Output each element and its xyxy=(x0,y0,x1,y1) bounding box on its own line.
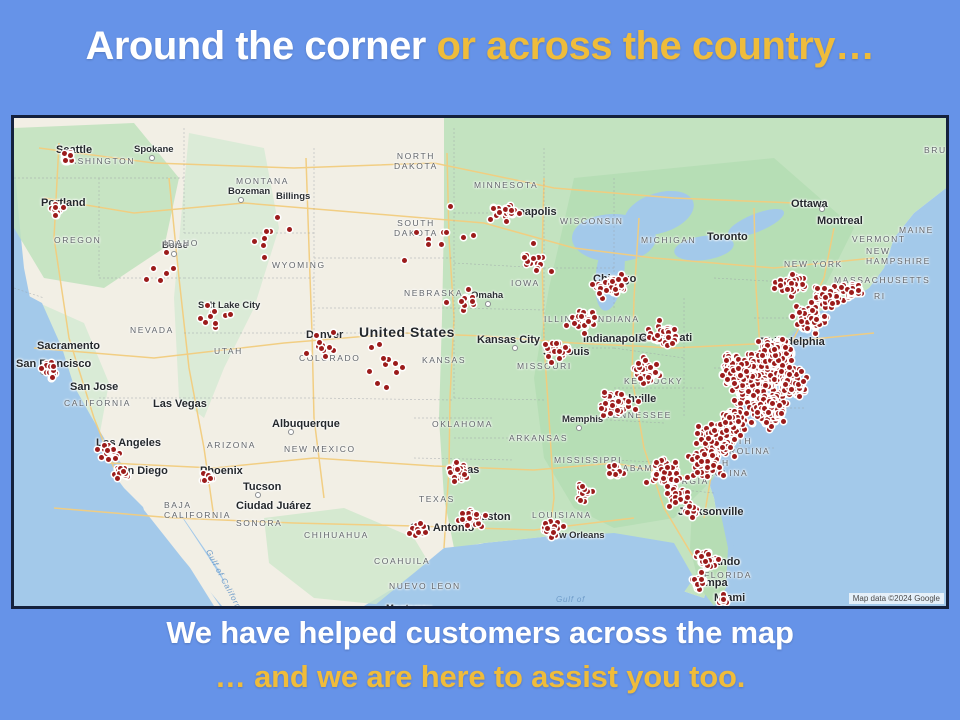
customer-marker xyxy=(655,333,660,338)
customer-marker xyxy=(608,411,613,416)
customer-marker xyxy=(781,400,786,405)
customer-marker xyxy=(728,445,733,450)
customer-marker xyxy=(563,345,568,350)
customer-marker xyxy=(839,285,844,290)
customer-marker xyxy=(619,272,624,277)
customer-marker xyxy=(665,343,670,348)
customer-marker xyxy=(810,308,815,313)
customer-marker xyxy=(115,476,120,481)
customer-marker xyxy=(262,236,267,241)
city-marker-kansas-city xyxy=(512,345,518,351)
customer-marker xyxy=(690,457,695,462)
map-container[interactable]: Seattle Spokane Portland Boise Bozeman B… xyxy=(11,115,949,609)
customer-marker xyxy=(454,460,459,465)
customer-marker xyxy=(564,323,569,328)
customer-marker xyxy=(765,364,770,369)
customer-marker xyxy=(755,410,760,415)
customer-marker xyxy=(331,330,336,335)
customer-marker xyxy=(203,320,208,325)
customer-marker xyxy=(95,447,100,452)
customer-marker xyxy=(789,387,794,392)
customer-marker xyxy=(377,342,382,347)
customer-marker xyxy=(744,411,749,416)
customer-marker xyxy=(685,510,690,515)
customer-marker xyxy=(778,283,783,288)
customer-marker xyxy=(788,347,793,352)
customer-marker xyxy=(647,335,652,340)
city-marker-boise xyxy=(171,251,177,257)
customer-marker xyxy=(654,472,659,477)
customer-marker xyxy=(718,422,723,427)
customer-marker xyxy=(444,230,449,235)
customer-marker xyxy=(102,443,107,448)
customer-marker xyxy=(781,419,786,424)
customer-marker xyxy=(213,325,218,330)
customer-marker xyxy=(497,210,502,215)
customer-marker xyxy=(418,521,423,526)
customer-marker xyxy=(111,447,116,452)
customer-marker xyxy=(633,407,638,412)
customer-marker xyxy=(531,241,536,246)
customer-marker xyxy=(784,351,789,356)
customer-marker xyxy=(517,211,522,216)
customer-marker xyxy=(202,478,207,483)
customer-marker xyxy=(648,365,653,370)
customer-marker xyxy=(797,310,802,315)
customer-marker xyxy=(452,479,457,484)
customer-marker xyxy=(580,484,585,489)
customer-marker xyxy=(164,271,169,276)
customer-marker xyxy=(323,354,328,359)
customer-marker xyxy=(694,441,699,446)
customer-marker xyxy=(158,278,163,283)
customer-marker xyxy=(461,308,466,313)
customer-marker xyxy=(776,358,781,363)
city-marker-memphis xyxy=(576,425,582,431)
customer-marker xyxy=(549,535,554,540)
customer-marker xyxy=(623,277,628,282)
customer-marker xyxy=(703,441,708,446)
customer-marker xyxy=(780,363,785,368)
customer-marker xyxy=(797,394,802,399)
customer-marker xyxy=(393,361,398,366)
customer-marker xyxy=(252,239,257,244)
customer-marker xyxy=(460,517,465,522)
customer-marker xyxy=(822,286,827,291)
customer-marker xyxy=(319,346,324,351)
customer-marker xyxy=(62,151,67,156)
customer-marker xyxy=(531,256,536,261)
customer-marker xyxy=(692,577,697,582)
customer-marker xyxy=(691,505,696,510)
customer-marker xyxy=(789,281,794,286)
customer-marker xyxy=(777,403,782,408)
customer-marker xyxy=(448,204,453,209)
customer-marker xyxy=(654,362,659,367)
customer-marker xyxy=(69,158,74,163)
customer-marker xyxy=(687,504,692,509)
customer-marker xyxy=(590,310,595,315)
customer-marker xyxy=(53,213,58,218)
customer-marker xyxy=(745,400,750,405)
footer-text-block: We have helped customers across the map … xyxy=(0,612,960,700)
customer-marker xyxy=(444,300,449,305)
customer-marker xyxy=(702,452,707,457)
customer-marker xyxy=(823,305,828,310)
customer-marker xyxy=(802,311,807,316)
customer-marker xyxy=(626,404,631,409)
customer-marker xyxy=(815,286,820,291)
customer-marker xyxy=(63,158,68,163)
customer-marker xyxy=(749,420,754,425)
customer-marker xyxy=(590,282,595,287)
customer-marker xyxy=(732,381,737,386)
customer-marker xyxy=(53,205,58,210)
customer-marker xyxy=(467,516,472,521)
customer-marker xyxy=(626,399,631,404)
customer-marker xyxy=(742,427,747,432)
customer-marker xyxy=(716,557,721,562)
city-marker-bozeman xyxy=(238,197,244,203)
customer-marker xyxy=(690,515,695,520)
customer-marker xyxy=(546,354,551,359)
customer-marker xyxy=(636,399,641,404)
footer-line-1: We have helped customers across the map xyxy=(0,612,960,654)
customer-marker xyxy=(667,471,672,476)
customer-marker xyxy=(805,320,810,325)
customer-marker xyxy=(841,298,846,303)
city-marker-omaha xyxy=(485,301,491,307)
customer-marker xyxy=(683,499,688,504)
customer-marker xyxy=(572,321,577,326)
customer-marker xyxy=(744,369,749,374)
customer-marker xyxy=(612,463,617,468)
customer-marker xyxy=(51,364,56,369)
headline-gold-text: or across the country… xyxy=(437,24,875,68)
city-marker-tucson xyxy=(255,492,261,498)
customer-marker xyxy=(601,413,606,418)
customer-marker xyxy=(582,331,587,336)
customer-marker xyxy=(809,300,814,305)
customer-marker xyxy=(394,370,399,375)
customer-marker xyxy=(814,317,819,322)
customer-marker xyxy=(755,389,760,394)
customer-marker xyxy=(772,347,777,352)
customer-marker xyxy=(592,315,597,320)
customer-marker xyxy=(503,207,508,212)
customer-marker xyxy=(720,373,725,378)
customer-marker xyxy=(666,335,671,340)
customer-marker xyxy=(799,369,804,374)
customer-marker xyxy=(724,428,729,433)
customer-marker xyxy=(402,258,407,263)
customer-marker xyxy=(603,401,608,406)
customer-marker xyxy=(779,411,784,416)
customer-marker xyxy=(699,459,704,464)
customer-marker xyxy=(590,489,595,494)
customer-marker xyxy=(262,255,267,260)
customer-marker xyxy=(730,361,735,366)
customer-marker xyxy=(780,337,785,342)
customer-marker xyxy=(164,250,169,255)
customer-marker xyxy=(287,227,292,232)
customer-marker xyxy=(557,356,562,361)
customer-marker xyxy=(603,280,608,285)
customer-marker xyxy=(736,419,741,424)
customer-marker xyxy=(208,314,213,319)
city-marker-spokane xyxy=(149,155,155,161)
customer-marker xyxy=(367,369,372,374)
customer-marker xyxy=(638,376,643,381)
customer-marker xyxy=(695,470,700,475)
customer-marker xyxy=(672,327,677,332)
customer-marker xyxy=(113,456,118,461)
customer-marker xyxy=(545,526,550,531)
page-title: Around the corner or across the country… xyxy=(0,24,960,69)
customer-marker xyxy=(787,365,792,370)
customer-marker xyxy=(327,345,332,350)
customer-marker xyxy=(317,340,322,345)
customer-marker xyxy=(751,393,756,398)
customer-marker xyxy=(732,437,737,442)
customer-marker xyxy=(756,339,761,344)
customer-marker xyxy=(228,312,233,317)
customer-marker xyxy=(607,471,612,476)
customer-marker xyxy=(610,279,615,284)
customer-marker xyxy=(695,582,700,587)
customer-marker xyxy=(426,242,431,247)
customer-marker xyxy=(723,420,728,425)
customer-marker xyxy=(738,433,743,438)
city-marker-ottawa xyxy=(819,206,825,212)
customer-marker xyxy=(646,375,651,380)
customer-marker xyxy=(711,463,716,468)
customer-marker xyxy=(607,394,612,399)
customer-marker xyxy=(830,301,835,306)
customer-marker xyxy=(714,441,719,446)
customer-marker xyxy=(717,465,722,470)
customer-marker xyxy=(721,592,726,597)
customer-marker xyxy=(616,399,621,404)
customer-marker xyxy=(772,286,777,291)
customer-marker xyxy=(208,476,213,481)
customer-marker xyxy=(705,474,710,479)
customer-marker xyxy=(779,369,784,374)
customer-marker xyxy=(764,420,769,425)
customer-marker xyxy=(460,511,465,516)
city-marker-albuquerque xyxy=(288,429,294,435)
customer-marker xyxy=(670,465,675,470)
google-map[interactable]: Seattle Spokane Portland Boise Bozeman B… xyxy=(14,118,946,606)
customer-marker xyxy=(536,255,541,260)
customer-marker xyxy=(543,342,548,347)
headline-white-text: Around the corner xyxy=(85,24,436,68)
footer-line-2: … and we are here to assist you too. xyxy=(0,654,960,700)
customer-marker xyxy=(659,458,664,463)
customer-marker xyxy=(534,268,539,273)
customer-marker xyxy=(653,370,658,375)
customer-marker xyxy=(787,372,792,377)
customer-marker xyxy=(522,255,527,260)
map-attribution: Map data ©2024 Google xyxy=(849,593,944,604)
customer-marker xyxy=(814,295,819,300)
customer-marker xyxy=(732,398,737,403)
customer-marker xyxy=(504,219,509,224)
customer-marker xyxy=(264,229,269,234)
customer-marker xyxy=(797,386,802,391)
customer-marker xyxy=(471,233,476,238)
customer-marker xyxy=(794,372,799,377)
customer-marker xyxy=(666,330,671,335)
customer-marker xyxy=(105,448,110,453)
customer-marker xyxy=(832,284,837,289)
customer-marker xyxy=(750,374,755,379)
customer-marker xyxy=(685,495,690,500)
customer-marker xyxy=(509,208,514,213)
customer-marker xyxy=(198,316,203,321)
customer-marker xyxy=(724,358,729,363)
customer-marker xyxy=(657,318,662,323)
customer-marker xyxy=(805,326,810,331)
customer-marker xyxy=(384,385,389,390)
customer-marker xyxy=(383,362,388,367)
customer-marker xyxy=(99,455,104,460)
customer-marker xyxy=(763,383,768,388)
customer-marker xyxy=(783,382,788,387)
customer-marker xyxy=(68,153,73,158)
customer-marker xyxy=(554,341,559,346)
customer-marker xyxy=(704,426,709,431)
map-landmass-shapes xyxy=(14,118,946,606)
customer-marker xyxy=(789,358,794,363)
customer-marker xyxy=(783,345,788,350)
customer-marker xyxy=(465,523,470,528)
customer-marker xyxy=(613,472,618,477)
customer-marker xyxy=(721,597,726,602)
customer-marker xyxy=(725,377,730,382)
customer-marker xyxy=(738,401,743,406)
customer-marker xyxy=(414,230,419,235)
customer-marker xyxy=(710,453,715,458)
customer-marker xyxy=(751,364,756,369)
customer-marker xyxy=(697,587,702,592)
customer-marker xyxy=(386,357,391,362)
customer-marker xyxy=(799,319,804,324)
customer-marker xyxy=(636,361,641,366)
customer-marker xyxy=(849,290,854,295)
customer-marker xyxy=(600,296,605,301)
